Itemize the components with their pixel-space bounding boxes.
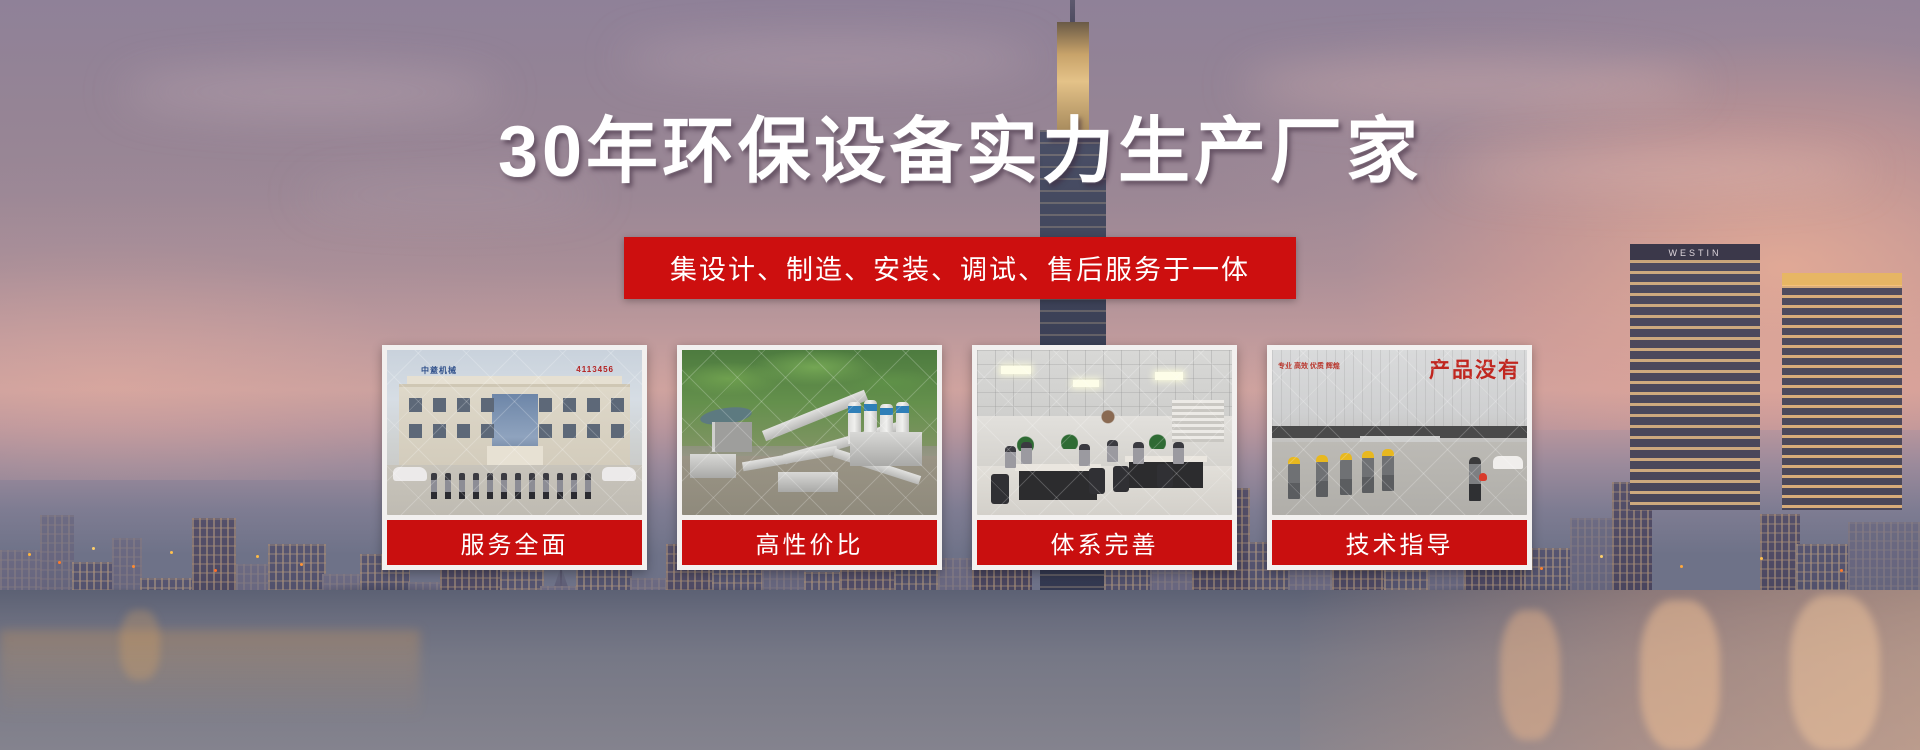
office-worker — [1173, 442, 1184, 464]
parked-car — [1493, 456, 1523, 469]
card-caption: 技术指导 — [1272, 520, 1527, 565]
potted-plant — [1061, 434, 1078, 449]
warehouse — [712, 422, 752, 452]
parked-car — [393, 467, 427, 481]
feature-card[interactable]: 中蓋机械 4113456 — [382, 345, 647, 570]
factory-yard-ground — [1272, 442, 1527, 515]
chair — [991, 474, 1009, 504]
photo-industrial-plant — [682, 350, 937, 515]
subtitle-container: 集设计、制造、安装、调试、售后服务于一体 — [0, 237, 1920, 299]
card-caption: 服务全面 — [387, 520, 642, 565]
card-photo — [682, 350, 937, 515]
feature-card-list: 中蓋机械 4113456 — [382, 345, 1532, 570]
photo-factory-yard: 专业 高效 优质 辉煌 产品没有 — [1272, 350, 1527, 515]
hero-banner: WESTIN 30年环保设备实力生产厂家 集设计、制造、安装、调试、售后服 — [0, 0, 1920, 750]
company-sign: 中蓋机械 — [421, 365, 457, 376]
desk — [1019, 468, 1097, 500]
subtitle-banner: 集设计、制造、安装、调试、售后服务于一体 — [624, 237, 1296, 299]
office-worker — [1079, 444, 1090, 466]
warehouse — [690, 454, 736, 478]
chair — [1157, 464, 1173, 488]
reflection-streak — [120, 610, 160, 680]
potted-plant — [1149, 434, 1166, 449]
phone-sign: 4113456 — [576, 365, 614, 374]
ceiling-lamp — [1155, 372, 1183, 380]
wall-decal — [1095, 406, 1121, 430]
office-worker — [1005, 446, 1016, 468]
worker — [1316, 455, 1328, 497]
tower-spire — [1070, 0, 1075, 24]
worker — [1340, 453, 1352, 495]
reflection-streak — [1790, 595, 1880, 750]
office-worker — [1133, 442, 1144, 464]
warehouse — [778, 472, 838, 492]
card-photo: 专业 高效 优质 辉煌 产品没有 — [1272, 350, 1527, 515]
card-caption: 体系完善 — [977, 520, 1232, 565]
card-photo — [977, 350, 1232, 515]
worker — [1362, 451, 1374, 493]
ceiling-lamp — [1073, 380, 1099, 387]
worker — [1382, 449, 1394, 491]
worker — [1288, 457, 1300, 499]
page-title: 30年环保设备实力生产厂家 — [0, 116, 1920, 188]
factory-banner-text: 产品没有 — [1429, 354, 1521, 384]
window-blinds — [1172, 400, 1224, 442]
parked-car — [602, 467, 636, 481]
card-photo: 中蓋机械 4113456 — [387, 350, 642, 515]
photo-office-interior — [977, 350, 1232, 515]
red-helmet-icon — [1479, 473, 1487, 481]
warehouse — [850, 432, 922, 466]
office-worker — [1107, 440, 1118, 462]
feature-card[interactable]: 高性价比 — [677, 345, 942, 570]
chair — [1113, 466, 1129, 492]
factory-slogan-text: 专业 高效 优质 辉煌 — [1278, 362, 1340, 371]
river-light-reflection — [0, 630, 420, 750]
reflection-streak — [1500, 610, 1560, 740]
office-worker — [1021, 442, 1032, 464]
feature-card[interactable]: 专业 高效 优质 辉煌 产品没有 — [1267, 345, 1532, 570]
chair — [1089, 468, 1105, 494]
ceiling-lamp — [1001, 366, 1031, 374]
photo-office-building: 中蓋机械 4113456 — [387, 350, 642, 515]
reflection-streak — [1640, 600, 1720, 750]
card-caption: 高性价比 — [682, 520, 937, 565]
feature-card[interactable]: 体系完善 — [972, 345, 1237, 570]
